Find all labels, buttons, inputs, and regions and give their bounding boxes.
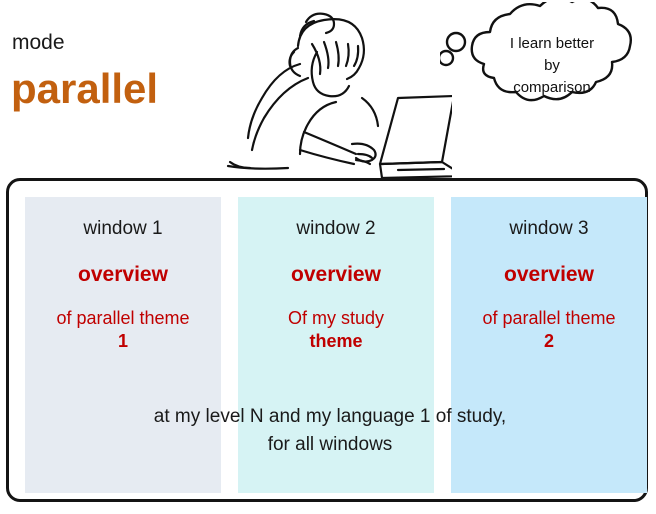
mode-label: mode [12, 32, 65, 53]
person-studying-at-laptop-icon [212, 2, 452, 178]
window-panel-3[interactable]: window 3 overview of parallel theme 2 [451, 197, 647, 493]
bubble-line-3: comparison [462, 77, 642, 99]
window-3-number: 2 [451, 330, 647, 353]
parallel-mode-container: window 1 overview of parallel theme 1 wi… [6, 178, 648, 502]
window-2-title: window 2 [238, 219, 434, 238]
header-section: mode parallel [0, 0, 656, 178]
window-3-subject: of parallel theme 2 [451, 307, 647, 352]
bubble-line-1: I learn better [462, 33, 642, 55]
window-2-heading: overview [238, 264, 434, 285]
window-3-title: window 3 [451, 219, 647, 238]
window-2-number: theme [238, 330, 434, 353]
bubble-line-2: by [462, 55, 642, 77]
mode-value: parallel [11, 68, 158, 110]
thought-bubble-text: I learn better by comparison [462, 33, 642, 98]
window-2-subject: Of my study theme [238, 307, 434, 352]
window-3-heading: overview [451, 264, 647, 285]
window-1-heading: overview [25, 264, 221, 285]
window-1-title: window 1 [25, 219, 221, 238]
window-2-subject-text: Of my study [288, 308, 384, 328]
windows-row: window 1 overview of parallel theme 1 wi… [25, 197, 635, 493]
window-panel-1[interactable]: window 1 overview of parallel theme 1 [25, 197, 221, 493]
window-1-subject: of parallel theme 1 [25, 307, 221, 352]
window-3-subject-text: of parallel theme [482, 308, 615, 328]
window-1-number: 1 [25, 330, 221, 353]
window-panel-2[interactable]: window 2 overview Of my study theme [238, 197, 434, 493]
window-1-subject-text: of parallel theme [56, 308, 189, 328]
